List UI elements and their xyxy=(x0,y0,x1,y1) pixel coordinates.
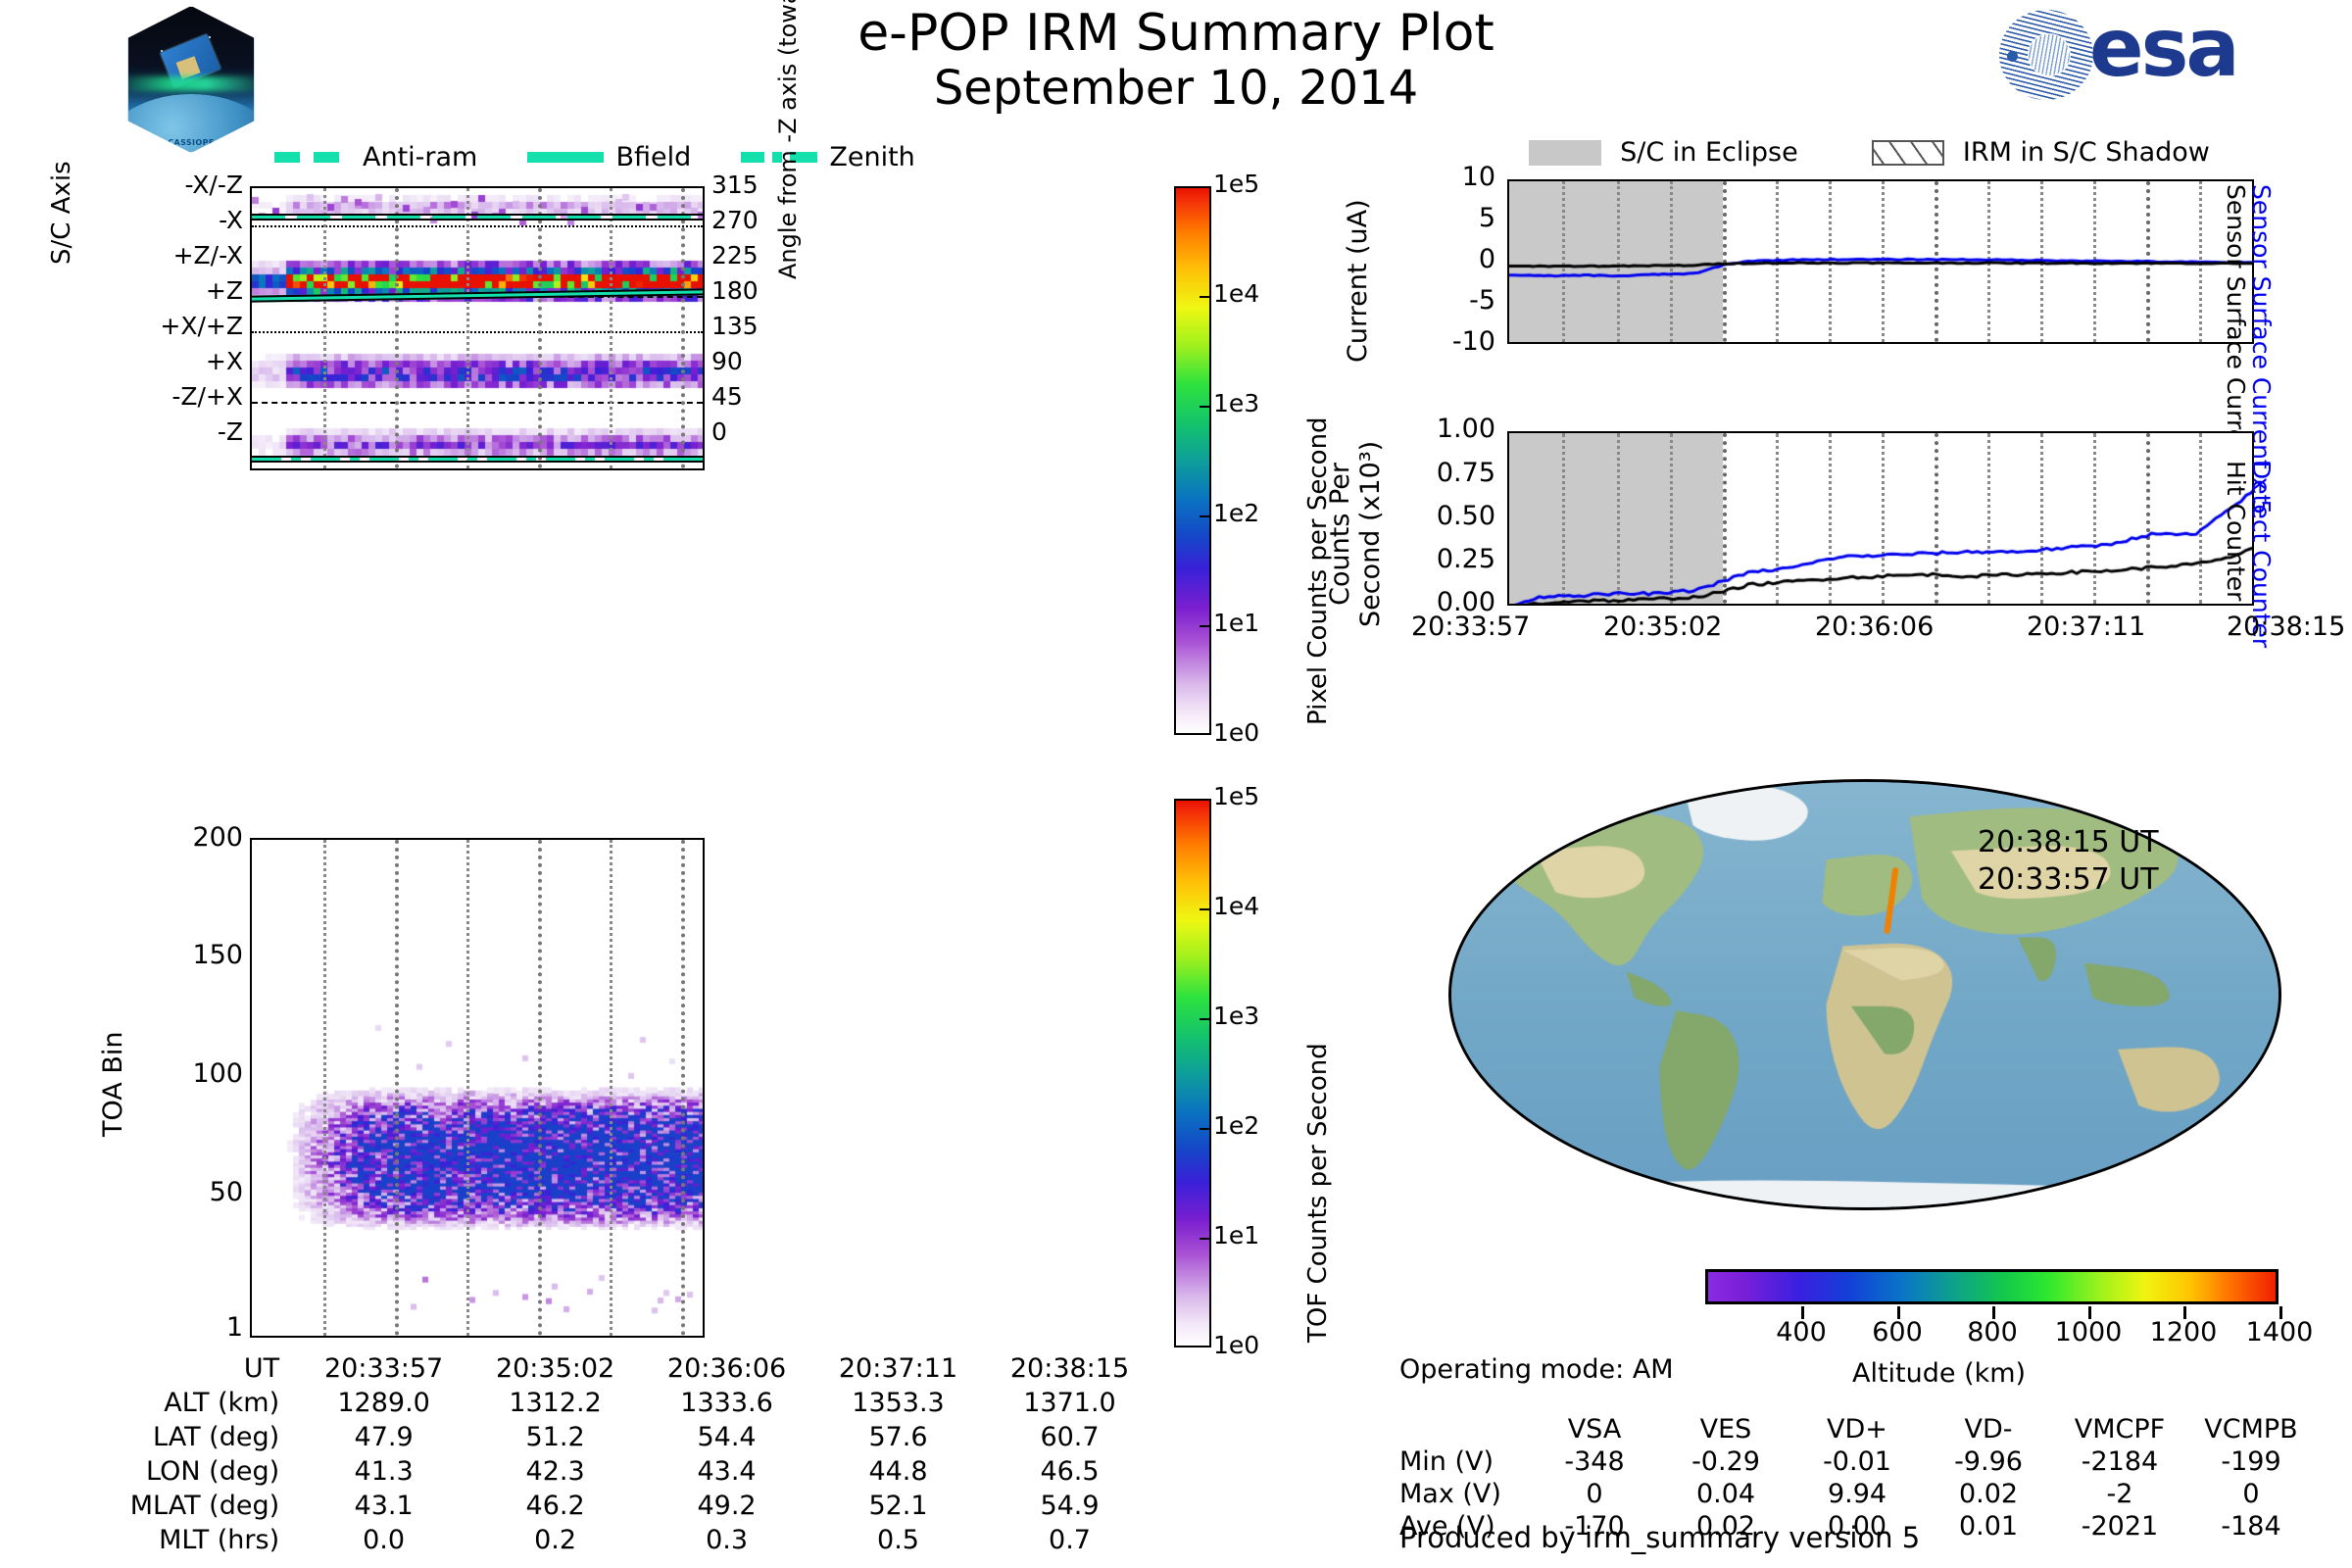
cbar-tick: 1e5 xyxy=(1213,782,1259,810)
row-label: LAT (deg) xyxy=(100,1421,297,1453)
operating-mode-text: Operating mode: AM xyxy=(1399,1354,1674,1385)
tof-counts-colorbar-label: TOF Counts per Second xyxy=(1303,1043,1333,1343)
cell: 20:38:15 xyxy=(985,1352,1154,1385)
cell: 49.2 xyxy=(642,1490,811,1522)
ytick: 50 xyxy=(210,1177,243,1207)
cell: -2184 xyxy=(2054,1445,2185,1478)
cell: -348 xyxy=(1529,1445,1660,1478)
alt-tick: 1200 xyxy=(2150,1317,2218,1347)
cell: 0.5 xyxy=(813,1524,983,1556)
row-label: MLAT (deg) xyxy=(100,1490,297,1522)
ytick: 10 xyxy=(1462,162,1495,192)
cell: 1353.3 xyxy=(813,1387,983,1419)
ytick: 200 xyxy=(192,822,243,853)
alt-tick: 1000 xyxy=(2055,1317,2123,1347)
alt-tick: 1400 xyxy=(2246,1317,2314,1347)
esa-wordmark: esa xyxy=(2089,2,2237,95)
table-row: LAT (deg) 47.9 51.2 54.4 57.6 60.7 xyxy=(100,1421,1154,1453)
zenith-trace xyxy=(252,456,703,463)
current-right-label-black: Sensor Surface Current xyxy=(2222,184,2250,469)
cell: 1312.2 xyxy=(470,1387,640,1419)
ytick: 0 xyxy=(1479,244,1495,274)
map-annotation-end: 20:38:15 UT xyxy=(1978,825,2159,859)
eclipse-legend: S/C in Eclipse IRM in S/C Shadow xyxy=(1529,137,2313,171)
table-row: MLAT (deg) 43.1 46.2 49.2 52.1 54.9 xyxy=(100,1490,1154,1522)
xtick: 20:33:57 xyxy=(1411,612,1530,642)
cell: 1371.0 xyxy=(985,1387,1154,1419)
eclipse-swatch-icon xyxy=(1529,140,1601,166)
cell: 0 xyxy=(2185,1478,2317,1510)
cbar-tick: 1e0 xyxy=(1213,718,1259,747)
counts-right-label-black: Hit Counter xyxy=(2222,461,2250,601)
right-ytick: 225 xyxy=(711,241,759,269)
cell: 0.04 xyxy=(1660,1478,1791,1510)
cell: 0.3 xyxy=(642,1524,811,1556)
right-ytick: 45 xyxy=(711,382,743,411)
legend-item-eclipse: S/C in Eclipse xyxy=(1529,137,1798,168)
cbar-tick: 1e3 xyxy=(1213,389,1259,417)
counts-ytick-labels: 1.00 0.75 0.50 0.25 0.00 xyxy=(1362,431,1495,606)
cell: 47.9 xyxy=(299,1421,468,1453)
cell: -2 xyxy=(2054,1478,2185,1510)
table-row: Min (V) -348 -0.29 -0.01 -9.96 -2184 -19… xyxy=(1399,1445,2317,1478)
ytick: -X xyxy=(219,206,243,234)
ytick: -10 xyxy=(1452,326,1495,357)
legend-item-bfield: Bfield xyxy=(527,142,691,172)
cbar-tick: 1e3 xyxy=(1213,1002,1259,1030)
cbar-tick: 1e5 xyxy=(1213,170,1259,198)
cbar-tick: 1e0 xyxy=(1213,1331,1259,1359)
cbar-tick: 1e4 xyxy=(1213,892,1259,920)
row-label: ALT (km) xyxy=(100,1387,297,1419)
legend-label: Zenith xyxy=(829,142,914,172)
cell: 57.6 xyxy=(813,1421,983,1453)
sc-axis-right-axis-label: Angle from -Z axis (towards +X axis) xyxy=(774,0,802,279)
right-ytick: 270 xyxy=(711,206,759,234)
cell: 46.2 xyxy=(470,1490,640,1522)
table-row: MLT (hrs) 0.0 0.2 0.3 0.5 0.7 xyxy=(100,1524,1154,1556)
right-ytick: 180 xyxy=(711,276,759,305)
cell: 54.4 xyxy=(642,1421,811,1453)
footer-text: Produced by irm_summary version 5 xyxy=(1399,1521,1920,1554)
cell: 0.7 xyxy=(985,1524,1154,1556)
cell: 1289.0 xyxy=(299,1387,468,1419)
toa-bin-spectrogram[interactable] xyxy=(250,838,705,1338)
cell: 0.02 xyxy=(1923,1478,2054,1510)
cbar-tick: 1e2 xyxy=(1213,499,1259,527)
row-label: Min (V) xyxy=(1399,1445,1529,1478)
cbar-tick: 1e4 xyxy=(1213,279,1259,308)
legend-label: S/C in Eclipse xyxy=(1620,137,1798,168)
sensor-current-plot[interactable] xyxy=(1507,179,2254,344)
table-row: ALT (km) 1289.0 1312.2 1333.6 1353.3 137… xyxy=(100,1387,1154,1419)
anti-ram-line-icon xyxy=(274,152,351,163)
cell: 20:37:11 xyxy=(813,1352,983,1385)
ytick: -Z xyxy=(218,417,243,446)
sc-axis-spectrogram[interactable] xyxy=(250,186,705,470)
altitude-colorbar xyxy=(1705,1269,2278,1304)
column-header: VCMPB xyxy=(2185,1413,2317,1445)
ytick: 1.00 xyxy=(1437,414,1495,444)
counts-ylabel-line1: Counts Per xyxy=(1325,441,1355,627)
column-header: VD- xyxy=(1923,1413,2054,1445)
cell: -184 xyxy=(2185,1510,2317,1543)
current-ylabel: Current (uA) xyxy=(1343,199,1373,363)
cell: 54.9 xyxy=(985,1490,1154,1522)
cell: 43.4 xyxy=(642,1455,811,1488)
legend-label: Anti-ram xyxy=(363,142,477,172)
column-header: VMCPF xyxy=(2054,1413,2185,1445)
cell: 51.2 xyxy=(470,1421,640,1453)
anti-ram-trace xyxy=(252,214,703,220)
cell: 9.94 xyxy=(1791,1478,1923,1510)
ytick: -5 xyxy=(1469,285,1495,316)
cell: 0.0 xyxy=(299,1524,468,1556)
altitude-colorbar-title: Altitude (km) xyxy=(1852,1358,2026,1389)
cassiope-mission-patch-icon: CASSIOPE xyxy=(127,6,255,153)
cell: -199 xyxy=(2185,1445,2317,1478)
cell: -2021 xyxy=(2054,1510,2185,1543)
legend-item-zenith: Zenith xyxy=(741,142,914,172)
esa-dot-icon xyxy=(2007,51,2018,62)
ytick: +Z xyxy=(206,276,243,305)
cell: 20:35:02 xyxy=(470,1352,640,1385)
ytick: +X/+Z xyxy=(160,312,243,340)
column-header: VES xyxy=(1660,1413,1791,1445)
ytick: 0.25 xyxy=(1437,544,1495,574)
toa-ytick-labels: 200 150 100 50 1 xyxy=(127,838,243,1338)
shadow-hatch-icon xyxy=(1872,140,1944,166)
row-label: LON (deg) xyxy=(100,1455,297,1488)
legend-label: IRM in S/C Shadow xyxy=(1963,137,2210,168)
ytick: 0.50 xyxy=(1437,501,1495,531)
current-ytick-labels: 10 5 0 -5 -10 xyxy=(1372,179,1495,344)
cell: 60.7 xyxy=(985,1421,1154,1453)
cell: 46.5 xyxy=(985,1455,1154,1488)
xtick: 20:35:02 xyxy=(1603,612,1722,642)
row-label: UT xyxy=(100,1352,297,1385)
xtick: 20:38:15 xyxy=(2227,612,2345,642)
ytick: 5 xyxy=(1479,203,1495,233)
cell: 0 xyxy=(1529,1478,1660,1510)
alt-tick: 600 xyxy=(1872,1317,1923,1347)
cell: 41.3 xyxy=(299,1455,468,1488)
map-annotation-start: 20:33:57 UT xyxy=(1978,862,2159,897)
page-subtitle: September 10, 2014 xyxy=(588,61,1764,116)
row-label: MLT (hrs) xyxy=(100,1524,297,1556)
table-row: LON (deg) 41.3 42.3 43.4 44.8 46.5 xyxy=(100,1455,1154,1488)
alt-tick: 400 xyxy=(1776,1317,1827,1347)
esa-logo: esa xyxy=(1999,8,2303,102)
legend-item-shadow: IRM in S/C Shadow xyxy=(1872,137,2210,168)
cell: 0.01 xyxy=(1923,1510,2054,1543)
counts-xtick-labels: 20:33:57 20:35:02 20:36:06 20:37:11 20:3… xyxy=(1411,612,2352,651)
table-row: Max (V) 0 0.04 9.94 0.02 -2 0 xyxy=(1399,1478,2317,1510)
cbar-tick: 1e2 xyxy=(1213,1111,1259,1140)
cell: 52.1 xyxy=(813,1490,983,1522)
cell: 43.1 xyxy=(299,1490,468,1522)
column-header: VD+ xyxy=(1791,1413,1923,1445)
toa-bin-ylabel: TOA Bin xyxy=(98,1032,128,1137)
ytick: -X/-Z xyxy=(185,171,243,199)
ephemeris-table: UT 20:33:57 20:35:02 20:36:06 20:37:11 2… xyxy=(98,1350,1156,1558)
legend-label: Bfield xyxy=(615,142,691,172)
table-header-row: VSA VES VD+ VD- VMCPF VCMPB xyxy=(1399,1413,2317,1445)
right-ytick: 315 xyxy=(711,171,759,199)
ytick: 100 xyxy=(192,1058,243,1089)
bfield-line-icon xyxy=(527,152,604,163)
legend-item-anti-ram: Anti-ram xyxy=(274,142,477,172)
sc-axis-ytick-labels: -X/-Z -X +Z/-X +Z +X/+Z +X -Z/+X -Z xyxy=(98,186,243,470)
ytick: 150 xyxy=(192,940,243,970)
cell: -9.96 xyxy=(1923,1445,2054,1478)
row-label: Max (V) xyxy=(1399,1478,1529,1510)
cbar-tick: 1e1 xyxy=(1213,609,1259,637)
cell: -0.01 xyxy=(1791,1445,1923,1478)
ytick: +Z/-X xyxy=(173,241,243,269)
right-ytick: 0 xyxy=(711,417,727,446)
patch-label: CASSIOPE xyxy=(128,138,254,147)
ytick: +X xyxy=(206,347,243,375)
table-row: UT 20:33:57 20:35:02 20:36:06 20:37:11 2… xyxy=(100,1352,1154,1385)
sc-axis-ylabel: S/C Axis xyxy=(47,161,76,265)
cell: 20:36:06 xyxy=(642,1352,811,1385)
ytick: 0.75 xyxy=(1437,458,1495,488)
page-title: e-POP IRM Summary Plot xyxy=(588,4,1764,63)
cell: 0.2 xyxy=(470,1524,640,1556)
cell: 42.3 xyxy=(470,1455,640,1488)
right-ytick: 90 xyxy=(711,347,743,375)
right-ytick: 135 xyxy=(711,312,759,340)
counts-per-second-plot[interactable] xyxy=(1507,431,2254,606)
xtick: 20:37:11 xyxy=(2027,612,2145,642)
ytick: -Z/+X xyxy=(171,382,243,411)
xtick: 20:36:06 xyxy=(1815,612,1934,642)
column-header: VSA xyxy=(1529,1413,1660,1445)
cell: 20:33:57 xyxy=(299,1352,468,1385)
cell: -0.29 xyxy=(1660,1445,1791,1478)
alt-tick: 800 xyxy=(1967,1317,2018,1347)
cbar-tick: 1e1 xyxy=(1213,1221,1259,1249)
cell: 1333.6 xyxy=(642,1387,811,1419)
cell: 44.8 xyxy=(813,1455,983,1488)
ytick: 1 xyxy=(226,1312,243,1343)
spectrogram-legend: Anti-ram Bfield Zenith xyxy=(274,142,960,175)
